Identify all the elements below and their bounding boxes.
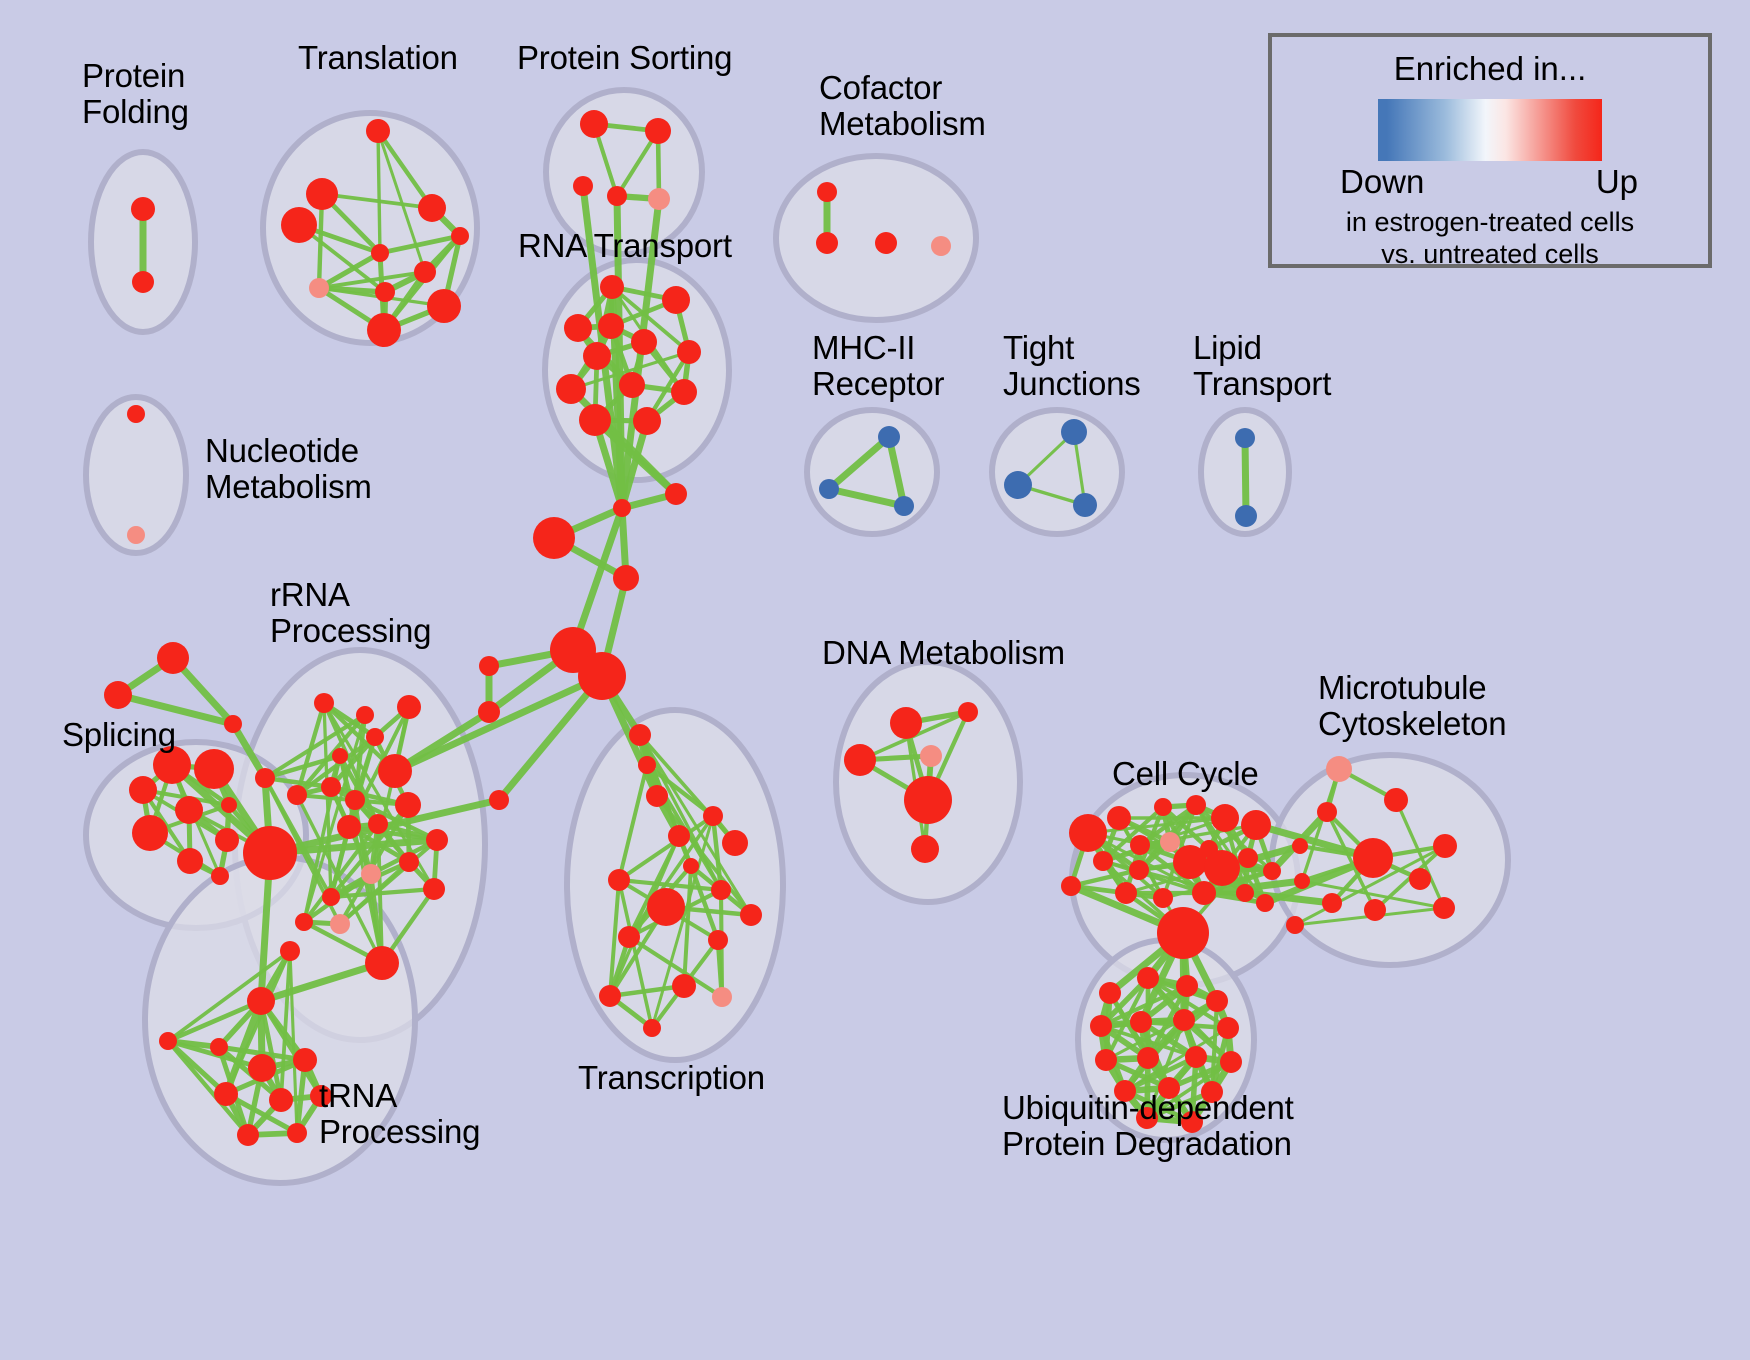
network-node[interactable]	[613, 565, 639, 591]
network-node[interactable]	[1069, 814, 1107, 852]
network-node[interactable]	[378, 754, 412, 788]
legend-gradient-wrap	[1378, 99, 1602, 161]
network-node[interactable]	[489, 790, 509, 810]
network-node[interactable]	[819, 479, 839, 499]
network-node[interactable]	[1433, 897, 1455, 919]
legend-caption-line2: vs. untreated cells	[1272, 239, 1708, 271]
network-node[interactable]	[127, 405, 145, 423]
network-node[interactable]	[281, 207, 317, 243]
network-node[interactable]	[740, 904, 762, 926]
network-node[interactable]	[564, 314, 592, 342]
network-node[interactable]	[280, 941, 300, 961]
network-node[interactable]	[1137, 1047, 1159, 1069]
network-node[interactable]	[1185, 1046, 1207, 1068]
legend-title: Enriched in...	[1272, 50, 1708, 88]
network-node[interactable]	[175, 796, 203, 824]
cluster-label-nucleotide-metabolism: Nucleotide Metabolism	[205, 433, 372, 505]
network-node[interactable]	[1364, 899, 1386, 921]
network-node[interactable]	[1157, 907, 1209, 959]
network-node[interactable]	[1322, 893, 1342, 913]
network-node[interactable]	[683, 858, 699, 874]
network-node[interactable]	[600, 275, 624, 299]
network-node[interactable]	[129, 776, 157, 804]
network-node[interactable]	[345, 790, 365, 810]
network-node[interactable]	[668, 825, 690, 847]
network-node[interactable]	[1211, 804, 1239, 832]
network-node[interactable]	[911, 835, 939, 863]
network-node[interactable]	[1073, 493, 1097, 517]
network-node[interactable]	[1061, 419, 1087, 445]
cluster-label-trna-processing: tRNA Processing	[319, 1078, 480, 1150]
network-node[interactable]	[247, 987, 275, 1015]
network-node[interactable]	[677, 340, 701, 364]
cluster-label-tight-junctions: Tight Junctions	[1003, 330, 1141, 402]
network-node[interactable]	[132, 815, 168, 851]
legend-box: Enriched in... Down Up in estrogen-treat…	[1268, 33, 1712, 268]
network-node[interactable]	[332, 748, 348, 764]
network-node[interactable]	[295, 913, 313, 931]
network-node[interactable]	[1173, 1009, 1195, 1031]
network-node[interactable]	[215, 828, 239, 852]
network-node[interactable]	[708, 930, 728, 950]
network-node[interactable]	[1176, 975, 1198, 997]
legend-endpoints: Down Up	[1340, 163, 1640, 203]
cluster-label-translation: Translation	[298, 40, 458, 76]
network-node[interactable]	[395, 792, 421, 818]
cluster-hull	[992, 410, 1122, 534]
cluster-label-protein-sorting: Protein Sorting	[517, 40, 732, 76]
network-node[interactable]	[127, 526, 145, 544]
network-node[interactable]	[237, 1124, 259, 1146]
cluster-label-rrna-processing: rRNA Processing	[270, 577, 431, 649]
network-node[interactable]	[1326, 756, 1352, 782]
network-node[interactable]	[367, 313, 401, 347]
network-node[interactable]	[1173, 845, 1207, 879]
network-node[interactable]	[920, 745, 942, 767]
network-node[interactable]	[243, 826, 297, 880]
network-node[interactable]	[478, 701, 500, 723]
network-node[interactable]	[629, 724, 651, 746]
cluster-label-protein-folding: Protein Folding	[82, 58, 189, 130]
network-node[interactable]	[646, 785, 668, 807]
network-node[interactable]	[314, 693, 334, 713]
network-node[interactable]	[1292, 838, 1308, 854]
network-node[interactable]	[645, 118, 671, 144]
network-edge	[1245, 438, 1246, 516]
network-node[interactable]	[157, 642, 189, 674]
network-node[interactable]	[817, 182, 837, 202]
network-node[interactable]	[1137, 967, 1159, 989]
network-node[interactable]	[1236, 884, 1254, 902]
network-node[interactable]	[293, 1048, 317, 1072]
network-node[interactable]	[958, 702, 978, 722]
network-node[interactable]	[1192, 881, 1216, 905]
network-node[interactable]	[414, 261, 436, 283]
network-edge	[378, 131, 380, 253]
network-node[interactable]	[712, 987, 732, 1007]
network-node[interactable]	[356, 706, 374, 724]
network-node[interactable]	[451, 227, 469, 245]
network-node[interactable]	[1129, 860, 1149, 880]
network-node[interactable]	[618, 926, 640, 948]
legend-low-label: Down	[1340, 163, 1424, 201]
network-node[interactable]	[371, 244, 389, 262]
network-node[interactable]	[904, 776, 952, 824]
legend-caption-line1: in estrogen-treated cells	[1272, 207, 1708, 239]
network-node[interactable]	[1317, 802, 1337, 822]
network-node[interactable]	[131, 197, 155, 221]
network-node[interactable]	[224, 715, 242, 733]
network-node[interactable]	[1294, 873, 1310, 889]
network-node[interactable]	[322, 888, 340, 906]
network-node[interactable]	[1107, 806, 1131, 830]
network-node[interactable]	[375, 282, 395, 302]
legend-high-label: Up	[1596, 163, 1638, 201]
network-node[interactable]	[306, 178, 338, 210]
network-node[interactable]	[599, 985, 621, 1007]
cluster-label-lipid-transport: Lipid Transport	[1193, 330, 1331, 402]
network-node[interactable]	[619, 372, 645, 398]
network-node[interactable]	[890, 707, 922, 739]
network-node[interactable]	[844, 744, 876, 776]
network-node[interactable]	[1099, 982, 1121, 1004]
network-node[interactable]	[1130, 835, 1150, 855]
network-node[interactable]	[1235, 505, 1257, 527]
network-node[interactable]	[1235, 428, 1255, 448]
network-node[interactable]	[194, 749, 234, 789]
cluster-hull	[807, 410, 937, 534]
network-node[interactable]	[269, 1088, 293, 1112]
network-node[interactable]	[662, 286, 690, 314]
network-node[interactable]	[711, 880, 731, 900]
network-node[interactable]	[1263, 862, 1281, 880]
cluster-label-splicing: Splicing	[62, 717, 176, 753]
network-node[interactable]	[366, 119, 390, 143]
network-node[interactable]	[1206, 990, 1228, 1012]
network-node[interactable]	[647, 888, 685, 926]
network-node[interactable]	[1093, 851, 1113, 871]
network-node[interactable]	[221, 797, 237, 813]
network-node[interactable]	[132, 271, 154, 293]
network-node[interactable]	[894, 496, 914, 516]
network-node[interactable]	[255, 768, 275, 788]
network-node[interactable]	[1353, 838, 1393, 878]
network-node[interactable]	[672, 974, 696, 998]
network-node[interactable]	[1095, 1049, 1117, 1071]
network-node[interactable]	[104, 681, 132, 709]
network-node[interactable]	[1130, 1011, 1152, 1033]
network-node[interactable]	[1090, 1015, 1112, 1037]
network-node[interactable]	[1220, 1051, 1242, 1073]
network-node[interactable]	[1433, 834, 1457, 858]
network-node[interactable]	[423, 878, 445, 900]
cluster-label-cell-cycle: Cell Cycle	[1112, 756, 1259, 792]
network-node[interactable]	[418, 194, 446, 222]
network-node[interactable]	[287, 1123, 307, 1143]
network-node[interactable]	[210, 1038, 228, 1056]
network-node[interactable]	[583, 342, 611, 370]
network-node[interactable]	[1115, 882, 1137, 904]
network-node[interactable]	[1186, 795, 1206, 815]
network-node[interactable]	[330, 914, 350, 934]
network-node[interactable]	[607, 186, 627, 206]
network-node[interactable]	[248, 1054, 276, 1082]
cluster-label-cofactor-metabolism: Cofactor Metabolism	[819, 70, 986, 142]
network-node[interactable]	[287, 785, 307, 805]
network-node[interactable]	[1241, 810, 1271, 840]
network-node[interactable]	[573, 176, 593, 196]
network-node[interactable]	[631, 329, 657, 355]
cluster-label-dna-metabolism: DNA Metabolism	[822, 635, 1065, 671]
network-node[interactable]	[931, 236, 951, 256]
network-node[interactable]	[579, 404, 611, 436]
network-node[interactable]	[1154, 798, 1172, 816]
legend-caption: in estrogen-treated cells vs. untreated …	[1272, 207, 1708, 271]
network-node[interactable]	[1238, 848, 1258, 868]
network-node[interactable]	[397, 695, 421, 719]
network-node[interactable]	[633, 407, 661, 435]
network-node[interactable]	[643, 1019, 661, 1037]
network-node[interactable]	[598, 313, 624, 339]
network-node[interactable]	[1160, 832, 1180, 852]
network-node[interactable]	[578, 652, 626, 700]
network-node[interactable]	[1217, 1017, 1239, 1039]
network-node[interactable]	[365, 946, 399, 980]
network-node[interactable]	[665, 483, 687, 505]
network-node[interactable]	[580, 110, 608, 138]
network-figure: Protein FoldingTranslationProtein Sortin…	[0, 0, 1750, 1360]
network-node[interactable]	[309, 278, 329, 298]
network-node[interactable]	[556, 374, 586, 404]
network-node[interactable]	[703, 806, 723, 826]
network-node[interactable]	[1061, 876, 1081, 896]
network-node[interactable]	[1384, 788, 1408, 812]
network-node[interactable]	[671, 379, 697, 405]
network-node[interactable]	[159, 1032, 177, 1050]
network-node[interactable]	[1004, 471, 1032, 499]
network-node[interactable]	[1256, 894, 1274, 912]
network-node[interactable]	[211, 867, 229, 885]
network-node[interactable]	[366, 728, 384, 746]
cluster-label-microtubule: Microtubule Cytoskeleton	[1318, 670, 1506, 742]
network-node[interactable]	[722, 830, 748, 856]
network-node[interactable]	[638, 756, 656, 774]
network-node[interactable]	[479, 656, 499, 676]
network-node[interactable]	[1286, 916, 1304, 934]
cluster-label-mhc-ii-receptor: MHC-II Receptor	[812, 330, 944, 402]
network-node[interactable]	[427, 289, 461, 323]
network-node[interactable]	[648, 188, 670, 210]
cluster-label-rna-transport: RNA Transport	[518, 228, 732, 264]
network-node[interactable]	[816, 232, 838, 254]
network-node[interactable]	[875, 232, 897, 254]
network-node[interactable]	[613, 499, 631, 517]
network-node[interactable]	[177, 848, 203, 874]
network-node[interactable]	[426, 829, 448, 851]
legend-color-gradient	[1378, 99, 1602, 161]
network-node[interactable]	[368, 814, 388, 834]
network-node[interactable]	[1153, 888, 1173, 908]
cluster-label-transcription: Transcription	[578, 1060, 765, 1096]
network-node[interactable]	[533, 517, 575, 559]
network-node[interactable]	[321, 777, 341, 797]
cluster-label-ubiquitin: Ubiquitin-dependent Protein Degradation	[1002, 1090, 1294, 1162]
network-node[interactable]	[1204, 850, 1240, 886]
network-node[interactable]	[608, 869, 630, 891]
network-node[interactable]	[878, 426, 900, 448]
network-node[interactable]	[1409, 868, 1431, 890]
network-node[interactable]	[361, 864, 381, 884]
network-node[interactable]	[399, 852, 419, 872]
network-node[interactable]	[337, 815, 361, 839]
network-node[interactable]	[214, 1082, 238, 1106]
